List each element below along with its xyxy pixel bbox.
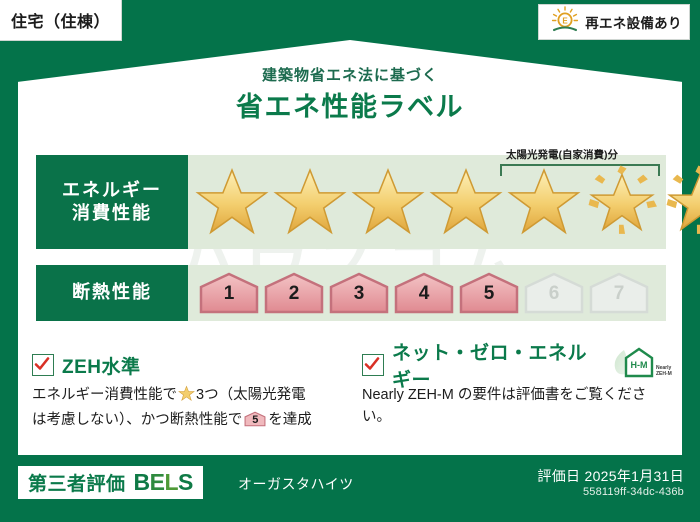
inline-star-icon xyxy=(178,385,195,409)
svg-text:H-M: H-M xyxy=(631,360,648,370)
house-level-number: 7 xyxy=(588,283,650,305)
house-level-badge: 2 xyxy=(263,271,325,315)
star-rating-group xyxy=(188,164,700,240)
bels-badge: 第三者評価 BELS xyxy=(18,466,203,499)
inline-house-icon: 5 xyxy=(244,410,266,435)
house-level-badge: 4 xyxy=(393,271,455,315)
house-level-number: 6 xyxy=(523,283,585,305)
third-party-eval-label: 第三者評価 xyxy=(28,469,126,496)
zeh-text-part3: を達成 xyxy=(268,412,312,428)
house-level-number: 1 xyxy=(198,283,260,305)
energy-performance-label: ハウスコム 住宅（住棟） E 再エネ設備あり 建 xyxy=(0,0,700,522)
net-zero-criteria-block: ネット・ゼロ・エネルギー H-M Nearly ZEH-M Nearly ZEH… xyxy=(362,352,672,429)
star-solar xyxy=(662,164,700,240)
zeh-text-part2: は考慮しない）、かつ断熱性能で xyxy=(32,412,242,428)
zeh-house-value: 5 xyxy=(244,412,266,429)
energy-rating-body: 太陽光発電(自家消費)分 xyxy=(188,155,700,249)
net-zero-criteria-text: Nearly ZEH-M の要件は評価書をご覧ください。 xyxy=(362,384,672,429)
housing-type-label: 住宅（住棟） xyxy=(11,8,110,32)
house-level-number: 4 xyxy=(393,283,455,305)
energy-label-line2: 消費性能 xyxy=(72,202,152,225)
house-level-badge: 5 xyxy=(458,271,520,315)
star-filled xyxy=(272,164,348,240)
housing-type-chip: 住宅（住棟） xyxy=(0,0,122,41)
label-subtitle: 建築物省エネ法に基づく xyxy=(0,64,700,85)
evaluation-id: 558119ff-34dc-436b xyxy=(583,486,684,498)
house-rating-group: 1 2 3 4 5 xyxy=(188,271,650,315)
svg-text:E: E xyxy=(563,16,569,25)
zeh-star-value: 3つ（太陽光発電 xyxy=(196,387,306,403)
star-solar xyxy=(584,164,660,240)
house-level-number: 2 xyxy=(263,283,325,305)
house-level-number: 5 xyxy=(458,283,520,305)
star-filled xyxy=(506,164,582,240)
energy-performance-row: エネルギー 消費性能 太陽光発電(自家消費)分 xyxy=(36,155,666,249)
zeh-text-part1: エネルギー消費性能で xyxy=(32,387,177,403)
house-level-badge-inactive: 6 xyxy=(523,271,585,315)
solar-annotation-text: 太陽光発電(自家消費)分 xyxy=(506,147,618,162)
insulation-performance-row: 断熱性能 1 2 3 xyxy=(36,265,666,321)
building-name: オーガスタハイツ xyxy=(238,474,354,494)
energy-label-line1: エネルギー xyxy=(62,179,162,202)
house-level-badge-inactive: 7 xyxy=(588,271,650,315)
energy-performance-label-box: エネルギー 消費性能 xyxy=(36,155,188,249)
nearly-zeh-m-logo: H-M Nearly ZEH-M xyxy=(610,346,672,385)
sun-renewable-icon: E xyxy=(550,6,580,39)
net-zero-criteria-header: ネット・ゼロ・エネルギー H-M Nearly ZEH-M xyxy=(362,352,672,378)
house-level-number: 3 xyxy=(328,283,390,305)
zeh-checkbox[interactable] xyxy=(32,354,54,376)
net-zero-checkbox[interactable] xyxy=(362,354,384,376)
star-filled xyxy=(428,164,504,240)
insulation-label: 断熱性能 xyxy=(72,281,152,304)
zeh-criteria-text: エネルギー消費性能で3つ（太陽光発電 は考慮しない）、かつ断熱性能で5を達成 xyxy=(32,384,350,436)
house-level-badge: 3 xyxy=(328,271,390,315)
insulation-label-box: 断熱性能 xyxy=(36,265,188,321)
label-footer: 第三者評価 BELS オーガスタハイツ 評価日 2025年1月31日 55811… xyxy=(0,456,700,522)
insulation-rating-body: 1 2 3 4 5 xyxy=(188,265,666,321)
star-filled xyxy=(194,164,270,240)
label-title: 省エネ性能ラベル xyxy=(0,85,700,124)
house-level-badge: 1 xyxy=(198,271,260,315)
evaluation-date: 評価日 2025年1月31日 xyxy=(537,466,684,486)
zeh-criteria-header: ZEH水準 xyxy=(32,352,350,378)
bels-wordmark: BELS xyxy=(134,469,193,496)
zeh-criteria-title: ZEH水準 xyxy=(62,352,141,379)
star-filled xyxy=(350,164,426,240)
zeh-criteria-block: ZEH水準 エネルギー消費性能で3つ（太陽光発電 は考慮しない）、かつ断熱性能で… xyxy=(32,352,350,436)
svg-text:ZEH-M: ZEH-M xyxy=(656,371,672,377)
renewable-energy-label: 再エネ設備あり xyxy=(585,12,682,32)
renewable-energy-chip: E 再エネ設備あり xyxy=(538,4,690,40)
